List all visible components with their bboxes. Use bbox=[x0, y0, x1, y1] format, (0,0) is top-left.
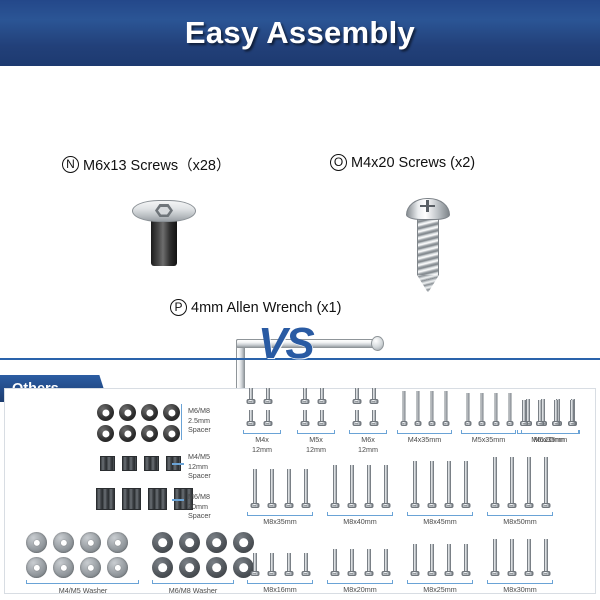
screw-group-bracket bbox=[297, 430, 335, 434]
screw-shaft bbox=[320, 410, 324, 421]
hex-socket-screw-icon bbox=[250, 469, 259, 508]
screw-shaft bbox=[416, 391, 419, 421]
screw-group-label: M8x20mm bbox=[318, 585, 402, 595]
screw-shaft bbox=[493, 539, 497, 571]
screw-head bbox=[442, 421, 449, 426]
screw-shaft bbox=[430, 544, 434, 571]
screw-shaft bbox=[367, 549, 371, 571]
screw-head bbox=[478, 421, 485, 426]
screw-shaft bbox=[413, 461, 417, 503]
screw-head bbox=[507, 571, 516, 576]
spacer-ring bbox=[163, 404, 180, 421]
washer bbox=[152, 532, 173, 553]
screw-group-label: M6x 12mm bbox=[340, 435, 396, 454]
screw-head bbox=[520, 421, 528, 426]
screw-shaft bbox=[372, 388, 376, 399]
screw-shaft bbox=[253, 469, 257, 503]
spacer-ring bbox=[163, 425, 180, 442]
screw-head bbox=[506, 421, 513, 426]
hex-socket-screw-icon bbox=[520, 400, 528, 426]
screw-shaft bbox=[554, 400, 558, 421]
washer bbox=[107, 557, 128, 578]
screw-thread bbox=[417, 218, 439, 276]
screw-group-label: M8x35mm bbox=[238, 517, 322, 527]
screw-shaft bbox=[466, 393, 469, 421]
screw-shaft bbox=[355, 388, 359, 399]
spacer-label: M6/M8 2.5mm Spacer bbox=[188, 406, 234, 435]
washer bbox=[80, 532, 101, 553]
screw-shaft bbox=[430, 391, 433, 421]
black-button-head-screw-icon bbox=[132, 200, 196, 266]
screw-head bbox=[263, 421, 272, 426]
screw-group-bracket bbox=[517, 430, 579, 434]
screw-head bbox=[300, 399, 309, 404]
screw-head bbox=[263, 399, 272, 404]
screw-shaft bbox=[527, 457, 531, 503]
hardware-label-allen-wrench: P 4mm Allen Wrench (x1) bbox=[170, 299, 341, 316]
washer bbox=[26, 532, 47, 553]
hex-socket-screw-icon bbox=[506, 393, 513, 426]
screw-group-bracket bbox=[247, 580, 313, 584]
screw-shaft bbox=[493, 457, 497, 503]
spacer-ring bbox=[119, 425, 136, 442]
hex-socket-screw-icon bbox=[263, 410, 272, 426]
hex-socket-screw-icon bbox=[490, 539, 499, 576]
hex-socket-screw-icon bbox=[428, 391, 435, 426]
washer bbox=[26, 557, 47, 578]
spacer-cylinder-short bbox=[100, 456, 115, 471]
screw-head bbox=[250, 503, 259, 508]
screw-shaft bbox=[287, 469, 291, 503]
hex-socket-screw-icon bbox=[461, 544, 470, 576]
hex-socket-screw-icon bbox=[507, 457, 516, 508]
hex-socket-screw-icon bbox=[267, 553, 276, 576]
screw-head bbox=[381, 571, 390, 576]
screw-group-label: M8x50mm bbox=[478, 517, 562, 527]
spacer-cylinder-short bbox=[144, 456, 159, 471]
screw-shaft bbox=[508, 393, 511, 421]
screw-head bbox=[317, 399, 326, 404]
hex-socket-screw-icon bbox=[369, 410, 378, 426]
screw-shaft bbox=[303, 388, 307, 399]
screw-head bbox=[492, 421, 499, 426]
screw-shaft bbox=[494, 393, 497, 421]
washer bbox=[206, 532, 227, 553]
hex-socket-screw-icon bbox=[507, 539, 516, 576]
washer bbox=[53, 557, 74, 578]
screw-shaft bbox=[544, 539, 548, 571]
screw-group-label: M8x40mm bbox=[318, 517, 402, 527]
hex-socket-screw-icon bbox=[541, 457, 550, 508]
screw-shaft bbox=[544, 457, 548, 503]
hex-socket-screw-icon bbox=[524, 457, 533, 508]
spacer-bracket-1 bbox=[181, 404, 182, 440]
screw-shaft bbox=[253, 553, 257, 571]
washer bbox=[206, 557, 227, 578]
screw-shaft bbox=[570, 400, 574, 421]
screw-head bbox=[444, 503, 453, 508]
hex-socket-screw-icon bbox=[369, 388, 378, 404]
screw-head bbox=[267, 571, 276, 576]
washer bbox=[107, 532, 128, 553]
screw-shaft bbox=[522, 400, 526, 421]
screw-group-label: M8x45mm bbox=[398, 517, 482, 527]
screw-group-bracket bbox=[327, 580, 393, 584]
screw-head bbox=[284, 503, 293, 508]
silver-pan-head-screw-icon bbox=[406, 198, 450, 292]
spacer-ring bbox=[97, 404, 114, 421]
screw-head bbox=[364, 571, 373, 576]
screw-head bbox=[300, 421, 309, 426]
screw-head bbox=[536, 421, 544, 426]
screw-shaft bbox=[402, 391, 405, 421]
hex-socket-screw-icon bbox=[317, 388, 326, 404]
screw-shaft bbox=[333, 465, 337, 503]
washer-bracket bbox=[152, 580, 234, 584]
washer-bracket bbox=[26, 580, 139, 584]
screw-group-bracket bbox=[461, 430, 516, 434]
screw-group-bracket bbox=[243, 430, 281, 434]
spacer-cylinder-tall bbox=[148, 488, 167, 510]
screw-head bbox=[541, 503, 550, 508]
hex-socket-screw-icon bbox=[284, 553, 293, 576]
hex-socket-screw-icon bbox=[492, 393, 499, 426]
spacer-cylinder-tall bbox=[122, 488, 141, 510]
hex-socket-screw-icon bbox=[317, 410, 326, 426]
hex-socket-screw-icon bbox=[541, 539, 550, 576]
screw-shaft bbox=[266, 410, 270, 421]
washer-label: M4/M5 Washer bbox=[20, 586, 146, 596]
screw-head bbox=[330, 571, 339, 576]
screw-shaft bbox=[249, 410, 253, 421]
hex-socket-screw-icon bbox=[300, 410, 309, 426]
hex-socket-screw-icon bbox=[461, 461, 470, 508]
screw-head bbox=[250, 571, 259, 576]
hex-socket-screw-icon bbox=[478, 393, 485, 426]
hex-socket-screw-icon bbox=[568, 400, 576, 426]
screw-group-label: M4x35mm bbox=[390, 435, 459, 445]
screw-shaft bbox=[447, 461, 451, 503]
screw-head bbox=[410, 503, 419, 508]
page-title: Easy Assembly bbox=[185, 15, 415, 51]
spacer-ring bbox=[97, 425, 114, 442]
spacer-tick-3 bbox=[172, 499, 184, 501]
assembly-hardware-comparison-page: Easy Assembly N M6x13 Screws（x28） O M4x2… bbox=[0, 0, 600, 600]
hex-socket-screw-icon bbox=[381, 549, 390, 576]
hex-socket-screw-icon bbox=[246, 410, 255, 426]
hex-socket-screw-icon bbox=[330, 465, 339, 508]
screw-head bbox=[400, 421, 407, 426]
screw-head bbox=[410, 571, 419, 576]
screw-head bbox=[461, 571, 470, 576]
screw-head bbox=[330, 503, 339, 508]
screw-head bbox=[301, 503, 310, 508]
wrench-ball-end bbox=[371, 336, 384, 351]
hex-socket-screw-icon bbox=[490, 457, 499, 508]
hex-socket-screw-icon bbox=[364, 549, 373, 576]
screw-tip bbox=[417, 275, 439, 292]
screw-group-bracket bbox=[407, 580, 473, 584]
hex-socket-screw-icon bbox=[246, 388, 255, 404]
screw-shaft bbox=[538, 400, 542, 421]
spacer-tick-2 bbox=[172, 463, 184, 465]
screw-shaft bbox=[372, 410, 376, 421]
screw-shaft bbox=[333, 549, 337, 571]
hex-socket-screw-icon bbox=[536, 400, 544, 426]
screw-head bbox=[381, 503, 390, 508]
screw-head bbox=[414, 421, 421, 426]
screw-group-label: M5x 12mm bbox=[288, 435, 344, 454]
screw-head bbox=[552, 421, 560, 426]
screw-shaft bbox=[384, 465, 388, 503]
hex-socket-screw-icon bbox=[381, 465, 390, 508]
screw-head bbox=[246, 399, 255, 404]
screw-shaft bbox=[367, 465, 371, 503]
header-banner: Easy Assembly bbox=[0, 0, 600, 66]
hex-socket-screw-icon bbox=[427, 461, 436, 508]
spacer-label: M6/M8 20mm Spacer bbox=[188, 492, 234, 521]
screw-head bbox=[246, 421, 255, 426]
screw-head bbox=[524, 503, 533, 508]
hex-socket-screw-icon bbox=[352, 388, 361, 404]
screw-shaft bbox=[355, 410, 359, 421]
screw-head bbox=[317, 421, 326, 426]
spacer-cylinder-tall bbox=[96, 488, 115, 510]
screw-group-bracket bbox=[247, 512, 313, 516]
screw-shaft bbox=[413, 544, 417, 571]
hex-socket-screw-icon bbox=[464, 393, 471, 426]
screw-shaft bbox=[350, 465, 354, 503]
screw-head bbox=[369, 399, 378, 404]
screw-head bbox=[427, 503, 436, 508]
screw-head bbox=[284, 571, 293, 576]
screw-head bbox=[369, 421, 378, 426]
screw-head bbox=[427, 571, 436, 576]
hex-socket-screw-icon bbox=[300, 388, 309, 404]
hex-socket-screw-icon bbox=[347, 549, 356, 576]
screw-head bbox=[541, 571, 550, 576]
screw-shaft bbox=[287, 553, 291, 571]
screw-shaft bbox=[270, 469, 274, 503]
screw-shaft bbox=[444, 391, 447, 421]
washer bbox=[179, 557, 200, 578]
screw-shaft bbox=[527, 539, 531, 571]
screw-group-label: M8x25mm bbox=[398, 585, 482, 595]
washer-label: M6/M8 Washer bbox=[146, 586, 240, 596]
screw-group-bracket bbox=[327, 512, 393, 516]
hex-socket-screw-icon bbox=[427, 544, 436, 576]
phillips-drive-icon bbox=[420, 205, 435, 208]
screw-head bbox=[352, 399, 361, 404]
screw-shaft bbox=[320, 388, 324, 399]
screw-head bbox=[490, 503, 499, 508]
screw-shaft bbox=[480, 393, 483, 421]
screw-shaft bbox=[151, 220, 177, 266]
included-hardware-section: N M6x13 Screws（x28） O M4x20 Screws (x2) … bbox=[0, 66, 600, 342]
screw-shaft bbox=[266, 388, 270, 399]
spacer-ring bbox=[119, 404, 136, 421]
hex-socket-screw-icon bbox=[364, 465, 373, 508]
screw-head bbox=[490, 571, 499, 576]
letter-badge-o: O bbox=[330, 154, 347, 171]
screw-shaft bbox=[303, 410, 307, 421]
washer bbox=[152, 557, 173, 578]
screw-head bbox=[524, 571, 533, 576]
screw-group-bracket bbox=[487, 580, 553, 584]
screw-group-bracket bbox=[397, 430, 452, 434]
screw-head bbox=[364, 503, 373, 508]
screw-group-label: M8x30mm bbox=[478, 585, 562, 595]
letter-badge-p: P bbox=[170, 299, 187, 316]
vs-label: VS bbox=[258, 322, 313, 366]
screw-shaft bbox=[510, 539, 514, 571]
screw-shaft bbox=[430, 461, 434, 503]
screw-head bbox=[347, 503, 356, 508]
screw-head bbox=[461, 503, 470, 508]
hex-socket-screw-icon bbox=[414, 391, 421, 426]
hex-socket-screw-icon bbox=[410, 544, 419, 576]
screw-head bbox=[568, 421, 576, 426]
spacer-cylinder-short bbox=[122, 456, 137, 471]
hex-socket-screw-icon bbox=[410, 461, 419, 508]
screw-shaft bbox=[447, 544, 451, 571]
screw-group-label: M8x16mm bbox=[238, 585, 322, 595]
screw-head bbox=[464, 421, 471, 426]
washer bbox=[53, 532, 74, 553]
hex-socket-screw-icon bbox=[444, 461, 453, 508]
screw-shaft bbox=[384, 549, 388, 571]
letter-badge-n: N bbox=[62, 156, 79, 173]
screw-head bbox=[428, 421, 435, 426]
screw-shaft bbox=[304, 469, 308, 503]
screw-head bbox=[347, 571, 356, 576]
hex-socket-screw-icon bbox=[347, 465, 356, 508]
hardware-label-text: M4x20 Screws (x2) bbox=[351, 155, 475, 171]
hardware-label-text: M6x13 Screws（x28） bbox=[83, 154, 230, 175]
spacer-ring bbox=[141, 425, 158, 442]
hex-socket-screw-icon bbox=[301, 553, 310, 576]
screw-shaft bbox=[464, 544, 468, 571]
screw-group-label: M4x 12mm bbox=[234, 435, 290, 454]
screw-group-bracket bbox=[349, 430, 387, 434]
hex-socket-screw-icon bbox=[267, 469, 276, 508]
hex-socket-screw-icon bbox=[301, 469, 310, 508]
screw-shaft bbox=[464, 461, 468, 503]
screw-shaft bbox=[249, 388, 253, 399]
washer bbox=[179, 532, 200, 553]
screw-head bbox=[507, 503, 516, 508]
screw-head bbox=[352, 421, 361, 426]
screw-head bbox=[444, 571, 453, 576]
screw-group-bracket bbox=[407, 512, 473, 516]
screw-shaft bbox=[304, 553, 308, 571]
hex-socket-screw-icon bbox=[444, 544, 453, 576]
screw-shaft bbox=[270, 553, 274, 571]
hex-socket-screw-icon bbox=[524, 539, 533, 576]
hex-socket-screw-icon bbox=[263, 388, 272, 404]
hardware-label-text: 4mm Allen Wrench (x1) bbox=[191, 300, 341, 316]
hex-socket-screw-icon bbox=[442, 391, 449, 426]
spacer-ring bbox=[141, 404, 158, 421]
hex-socket-screw-icon bbox=[284, 469, 293, 508]
hex-socket-screw-icon bbox=[250, 553, 259, 576]
washer bbox=[233, 532, 254, 553]
screw-group-bracket bbox=[487, 512, 553, 516]
washer bbox=[80, 557, 101, 578]
hex-socket-screw-icon bbox=[400, 391, 407, 426]
screw-shaft bbox=[510, 457, 514, 503]
screw-head bbox=[301, 571, 310, 576]
hex-socket-screw-icon bbox=[330, 549, 339, 576]
hardware-label-m4x20-screws: O M4x20 Screws (x2) bbox=[330, 154, 475, 171]
spacer-label: M4/M5 12mm Spacer bbox=[188, 452, 234, 481]
hex-socket-screw-icon bbox=[352, 410, 361, 426]
hex-socket-screw-icon bbox=[552, 400, 560, 426]
screw-group-label: M6x20mm bbox=[512, 435, 584, 445]
screw-shaft bbox=[350, 549, 354, 571]
hardware-label-m6x13-screws: N M6x13 Screws（x28） bbox=[62, 154, 230, 175]
screw-head bbox=[267, 503, 276, 508]
